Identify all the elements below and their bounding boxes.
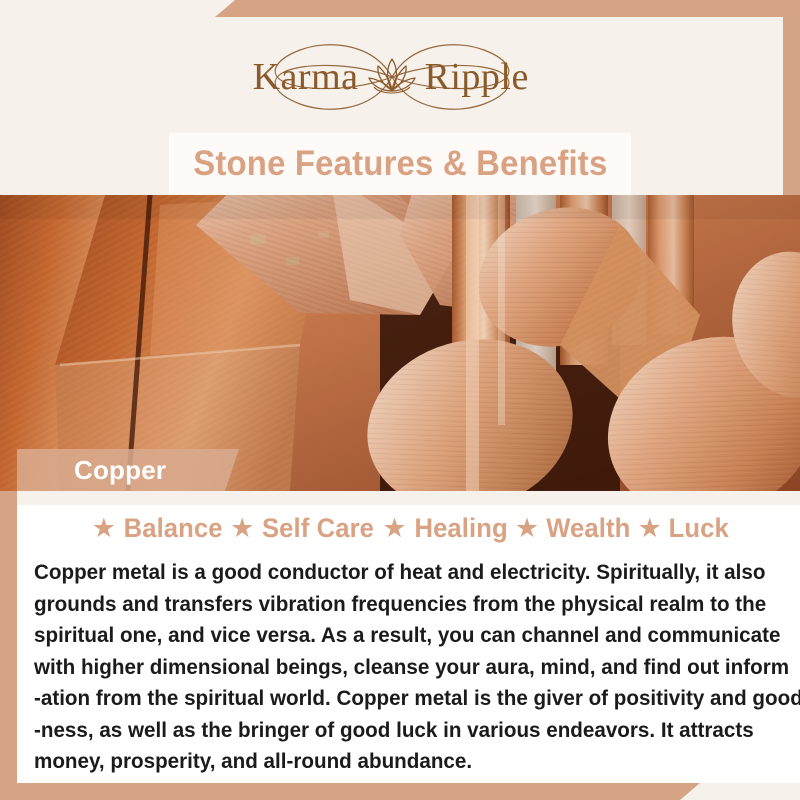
brand-logo: Karma Ripple — [222, 34, 562, 120]
frame-band-right — [783, 0, 800, 196]
header: Karma Ripple — [0, 17, 783, 137]
feature-luck: Luck — [668, 513, 728, 544]
photo-caption-chip: Copper — [17, 449, 239, 491]
frame-band-bottom-left — [0, 783, 700, 800]
photo-caption-label: Copper — [17, 455, 166, 486]
infographic-poster: Karma Ripple — [0, 0, 800, 800]
copper-bars-photo: Copper — [0, 195, 800, 491]
title-banner: Stone Features & Benefits — [169, 133, 631, 195]
star-icon: ★ — [377, 515, 411, 542]
star-icon: ★ — [225, 515, 259, 542]
description-line: -ness, as well as the bringer of good lu… — [34, 714, 745, 746]
page-title: Stone Features & Benefits — [193, 144, 607, 184]
star-icon: ★ — [633, 515, 667, 542]
description-line: spiritual one, and vice versa. As a resu… — [34, 619, 745, 651]
feature-wealth: Wealth — [546, 513, 630, 544]
lotus-flower-icon — [365, 53, 419, 101]
star-icon: ★ — [87, 515, 121, 542]
content-top-spacer — [17, 491, 800, 505]
description-line: -ation from the spiritual world. Copper … — [34, 682, 745, 714]
photo-artwork — [0, 195, 800, 491]
feature-self-care: Self Care — [262, 513, 374, 544]
description-line: Copper metal is a good conductor of heat… — [34, 556, 745, 588]
description-text: Copper metal is a good conductor of heat… — [17, 546, 800, 777]
star-icon: ★ — [510, 515, 544, 542]
description-line: money, prosperity, and all-round abundan… — [34, 745, 745, 777]
brand-name-right: Ripple — [419, 58, 560, 96]
features-list: ★ Balance ★ Self Care ★ Healing ★ Wealth… — [17, 505, 800, 546]
brand-name-left: Karma — [224, 58, 365, 96]
feature-healing: Healing — [414, 513, 507, 544]
description-line: with higher dimensional beings, cleanse … — [34, 651, 745, 683]
frame-band-top-right — [215, 0, 800, 17]
content-area: ★ Balance ★ Self Care ★ Healing ★ Wealth… — [17, 491, 800, 783]
feature-balance: Balance — [124, 513, 223, 544]
description-line: grounds and transfers vibration frequenc… — [34, 588, 745, 620]
